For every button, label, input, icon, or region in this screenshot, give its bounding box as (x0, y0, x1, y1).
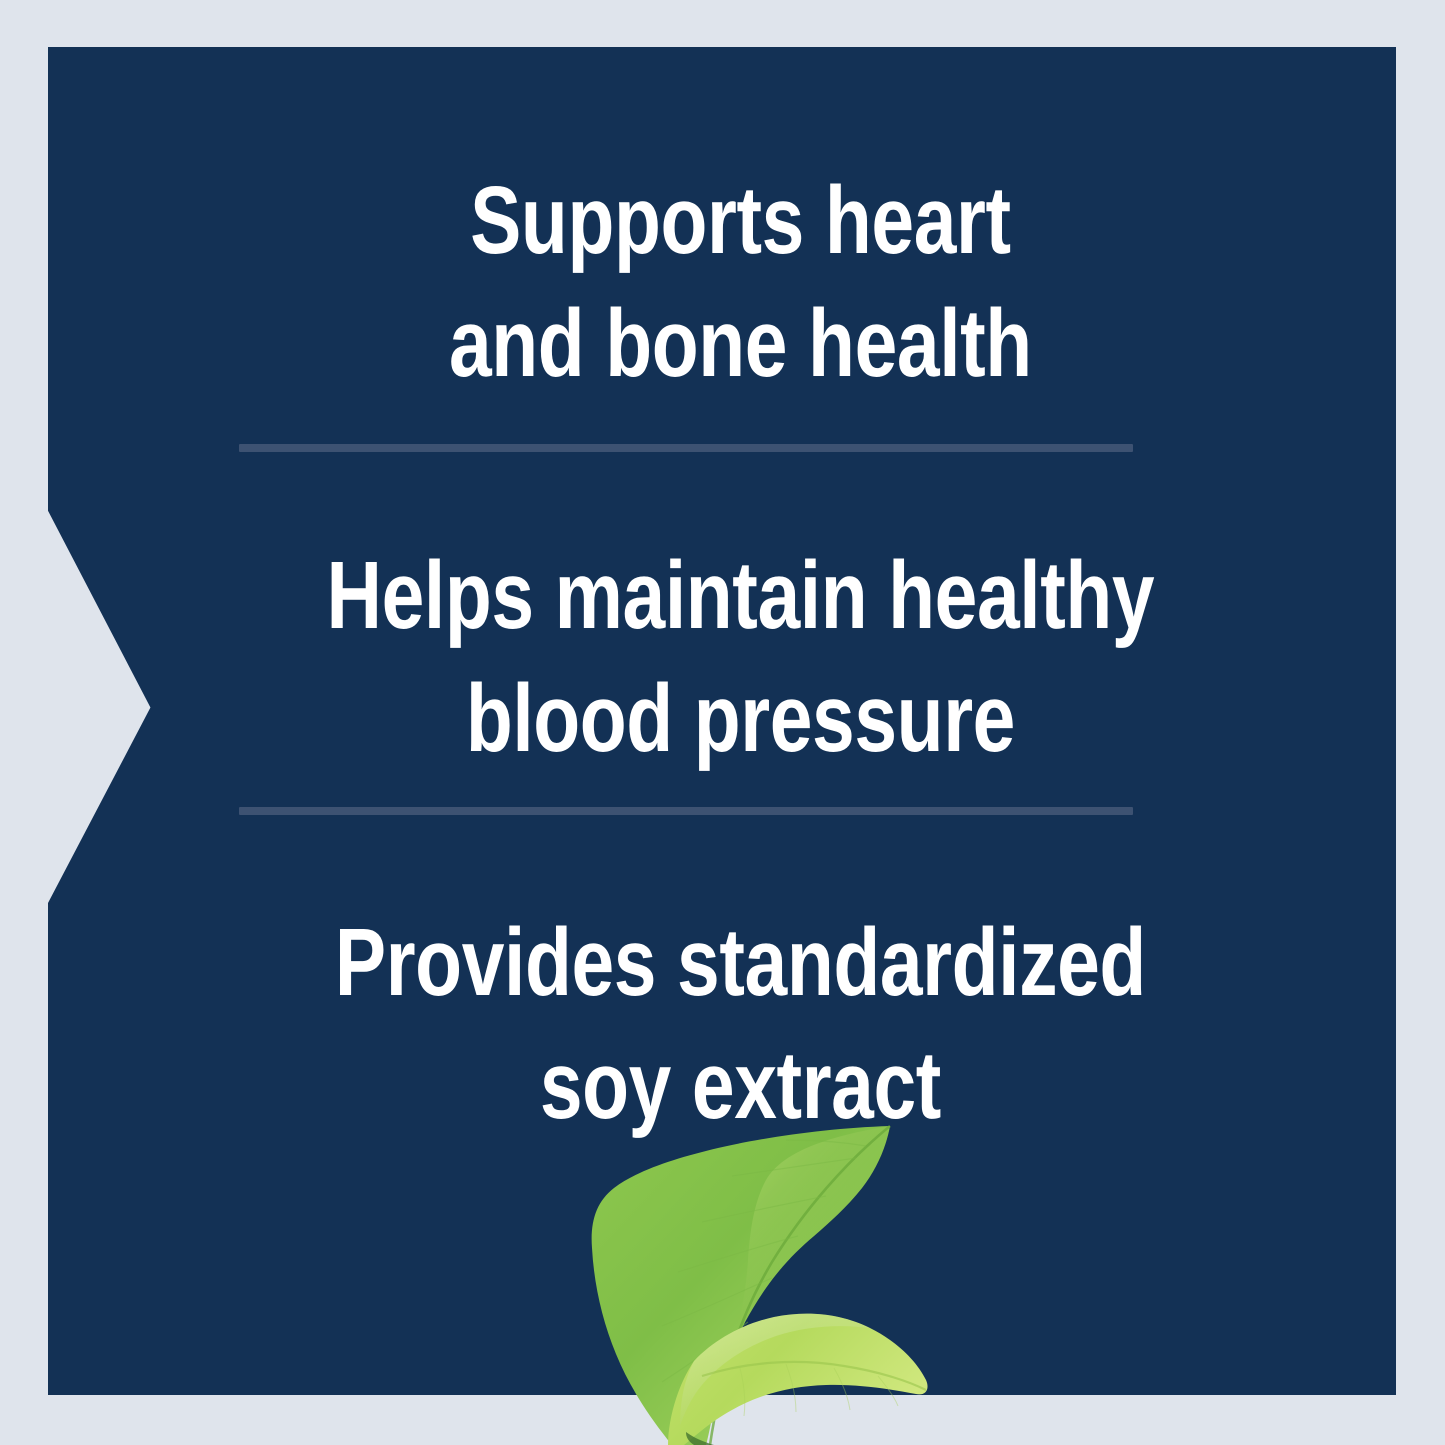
leaf-stem (686, 1432, 714, 1445)
divider-rule-1 (239, 444, 1133, 452)
divider-rule-2 (239, 807, 1133, 815)
benefits-graphic: Supports heart and bone health Helps mai… (0, 0, 1445, 1445)
navy-panel (48, 47, 1396, 1395)
